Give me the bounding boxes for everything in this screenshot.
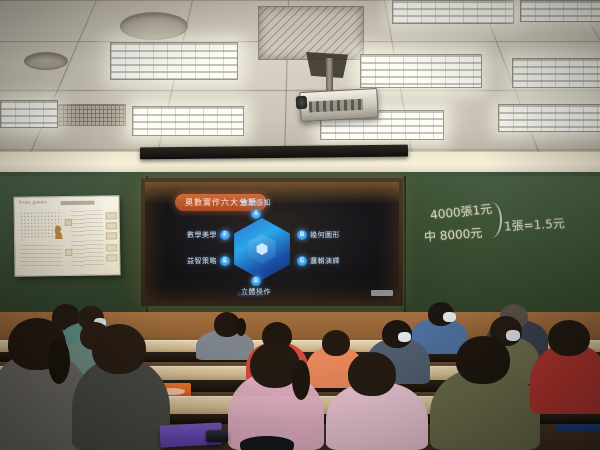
ceiling-light-panel xyxy=(360,54,482,88)
face-mask-icon xyxy=(506,330,520,341)
poster-title: Some games xyxy=(19,200,47,205)
poster-chip xyxy=(65,249,72,256)
ceiling-light-panel xyxy=(392,0,514,24)
poster-chip xyxy=(106,244,117,251)
ponytail xyxy=(292,360,310,400)
node-d-badge: D xyxy=(251,276,261,286)
slide-footer-text: 奧數實作課程 xyxy=(237,292,264,298)
air-diffuser-icon xyxy=(258,6,364,60)
slide-node-a[interactable]: 數學感知 A xyxy=(241,198,271,219)
ceiling-light-panel xyxy=(512,58,600,88)
node-e-label: 益智策略 xyxy=(187,256,217,266)
wall-poster: Some games xyxy=(13,195,120,276)
node-b-label: 幾何圖形 xyxy=(310,230,340,240)
slide-node-e[interactable]: E 益智策略 xyxy=(187,256,230,266)
ceiling-projector-icon xyxy=(299,88,378,122)
slide-nav-button[interactable] xyxy=(371,290,393,296)
ceiling-light-panel xyxy=(132,106,244,136)
poster-table xyxy=(71,210,103,236)
person-head xyxy=(322,330,350,356)
projection-screen[interactable]: 奧數實作六大分類 數學感知 A B 幾何圖形 C 邏輯演繹 立體操作 D E 益… xyxy=(145,182,399,302)
ponytail xyxy=(236,318,246,336)
poster-table xyxy=(20,245,62,268)
ceiling-light-panel xyxy=(520,0,600,22)
ceiling-light-panel xyxy=(0,100,58,128)
poster-chip xyxy=(106,232,117,239)
node-c-label: 邏輯演繹 xyxy=(310,256,340,266)
person-head xyxy=(92,324,146,374)
node-b-badge: B xyxy=(297,230,307,240)
face-mask-icon xyxy=(398,332,411,342)
slide-node-f[interactable]: F 數學美學 xyxy=(187,230,230,240)
projector-lens-icon xyxy=(296,96,308,110)
face-mask-icon xyxy=(443,312,456,322)
poster-header-bar xyxy=(61,201,95,205)
chalk-note-3: 1張=1.5元 xyxy=(504,214,566,234)
poster-chip xyxy=(65,219,72,226)
classroom-scene: 4000張1元 中 8000元 1張=1.5元 Some games 奧數實作六… xyxy=(0,0,600,450)
round-vent-icon xyxy=(120,12,188,40)
slide-node-c[interactable]: C 邏輯演繹 xyxy=(297,256,340,266)
ceiling-light-panel xyxy=(110,42,238,80)
node-a-label: 數學感知 xyxy=(241,198,271,208)
poster-chip xyxy=(106,212,117,219)
node-c-badge: C xyxy=(297,256,307,266)
ceiling xyxy=(0,0,600,160)
person-head xyxy=(548,320,590,356)
dark-object-on-desk xyxy=(240,436,294,450)
node-f-badge: F xyxy=(220,230,230,240)
poster-dot-grid xyxy=(20,211,62,238)
ceiling-grille-icon xyxy=(46,104,126,126)
node-f-label: 數學美學 xyxy=(187,230,217,240)
ponytail xyxy=(48,338,70,384)
poster-chip xyxy=(106,254,117,261)
smartphone[interactable] xyxy=(206,430,228,443)
hexagon-diagram xyxy=(231,218,293,280)
ceiling-light-panel xyxy=(498,104,600,132)
projector-mount-pole xyxy=(326,58,333,94)
slide-node-b[interactable]: B 幾何圖形 xyxy=(297,230,340,240)
poster-table xyxy=(71,240,103,266)
round-vent-icon xyxy=(24,52,68,70)
person-head xyxy=(456,336,510,384)
node-a-badge: A xyxy=(251,209,261,219)
node-e-badge: E xyxy=(220,256,230,266)
person-head xyxy=(348,352,396,396)
poster-chip xyxy=(106,222,117,229)
